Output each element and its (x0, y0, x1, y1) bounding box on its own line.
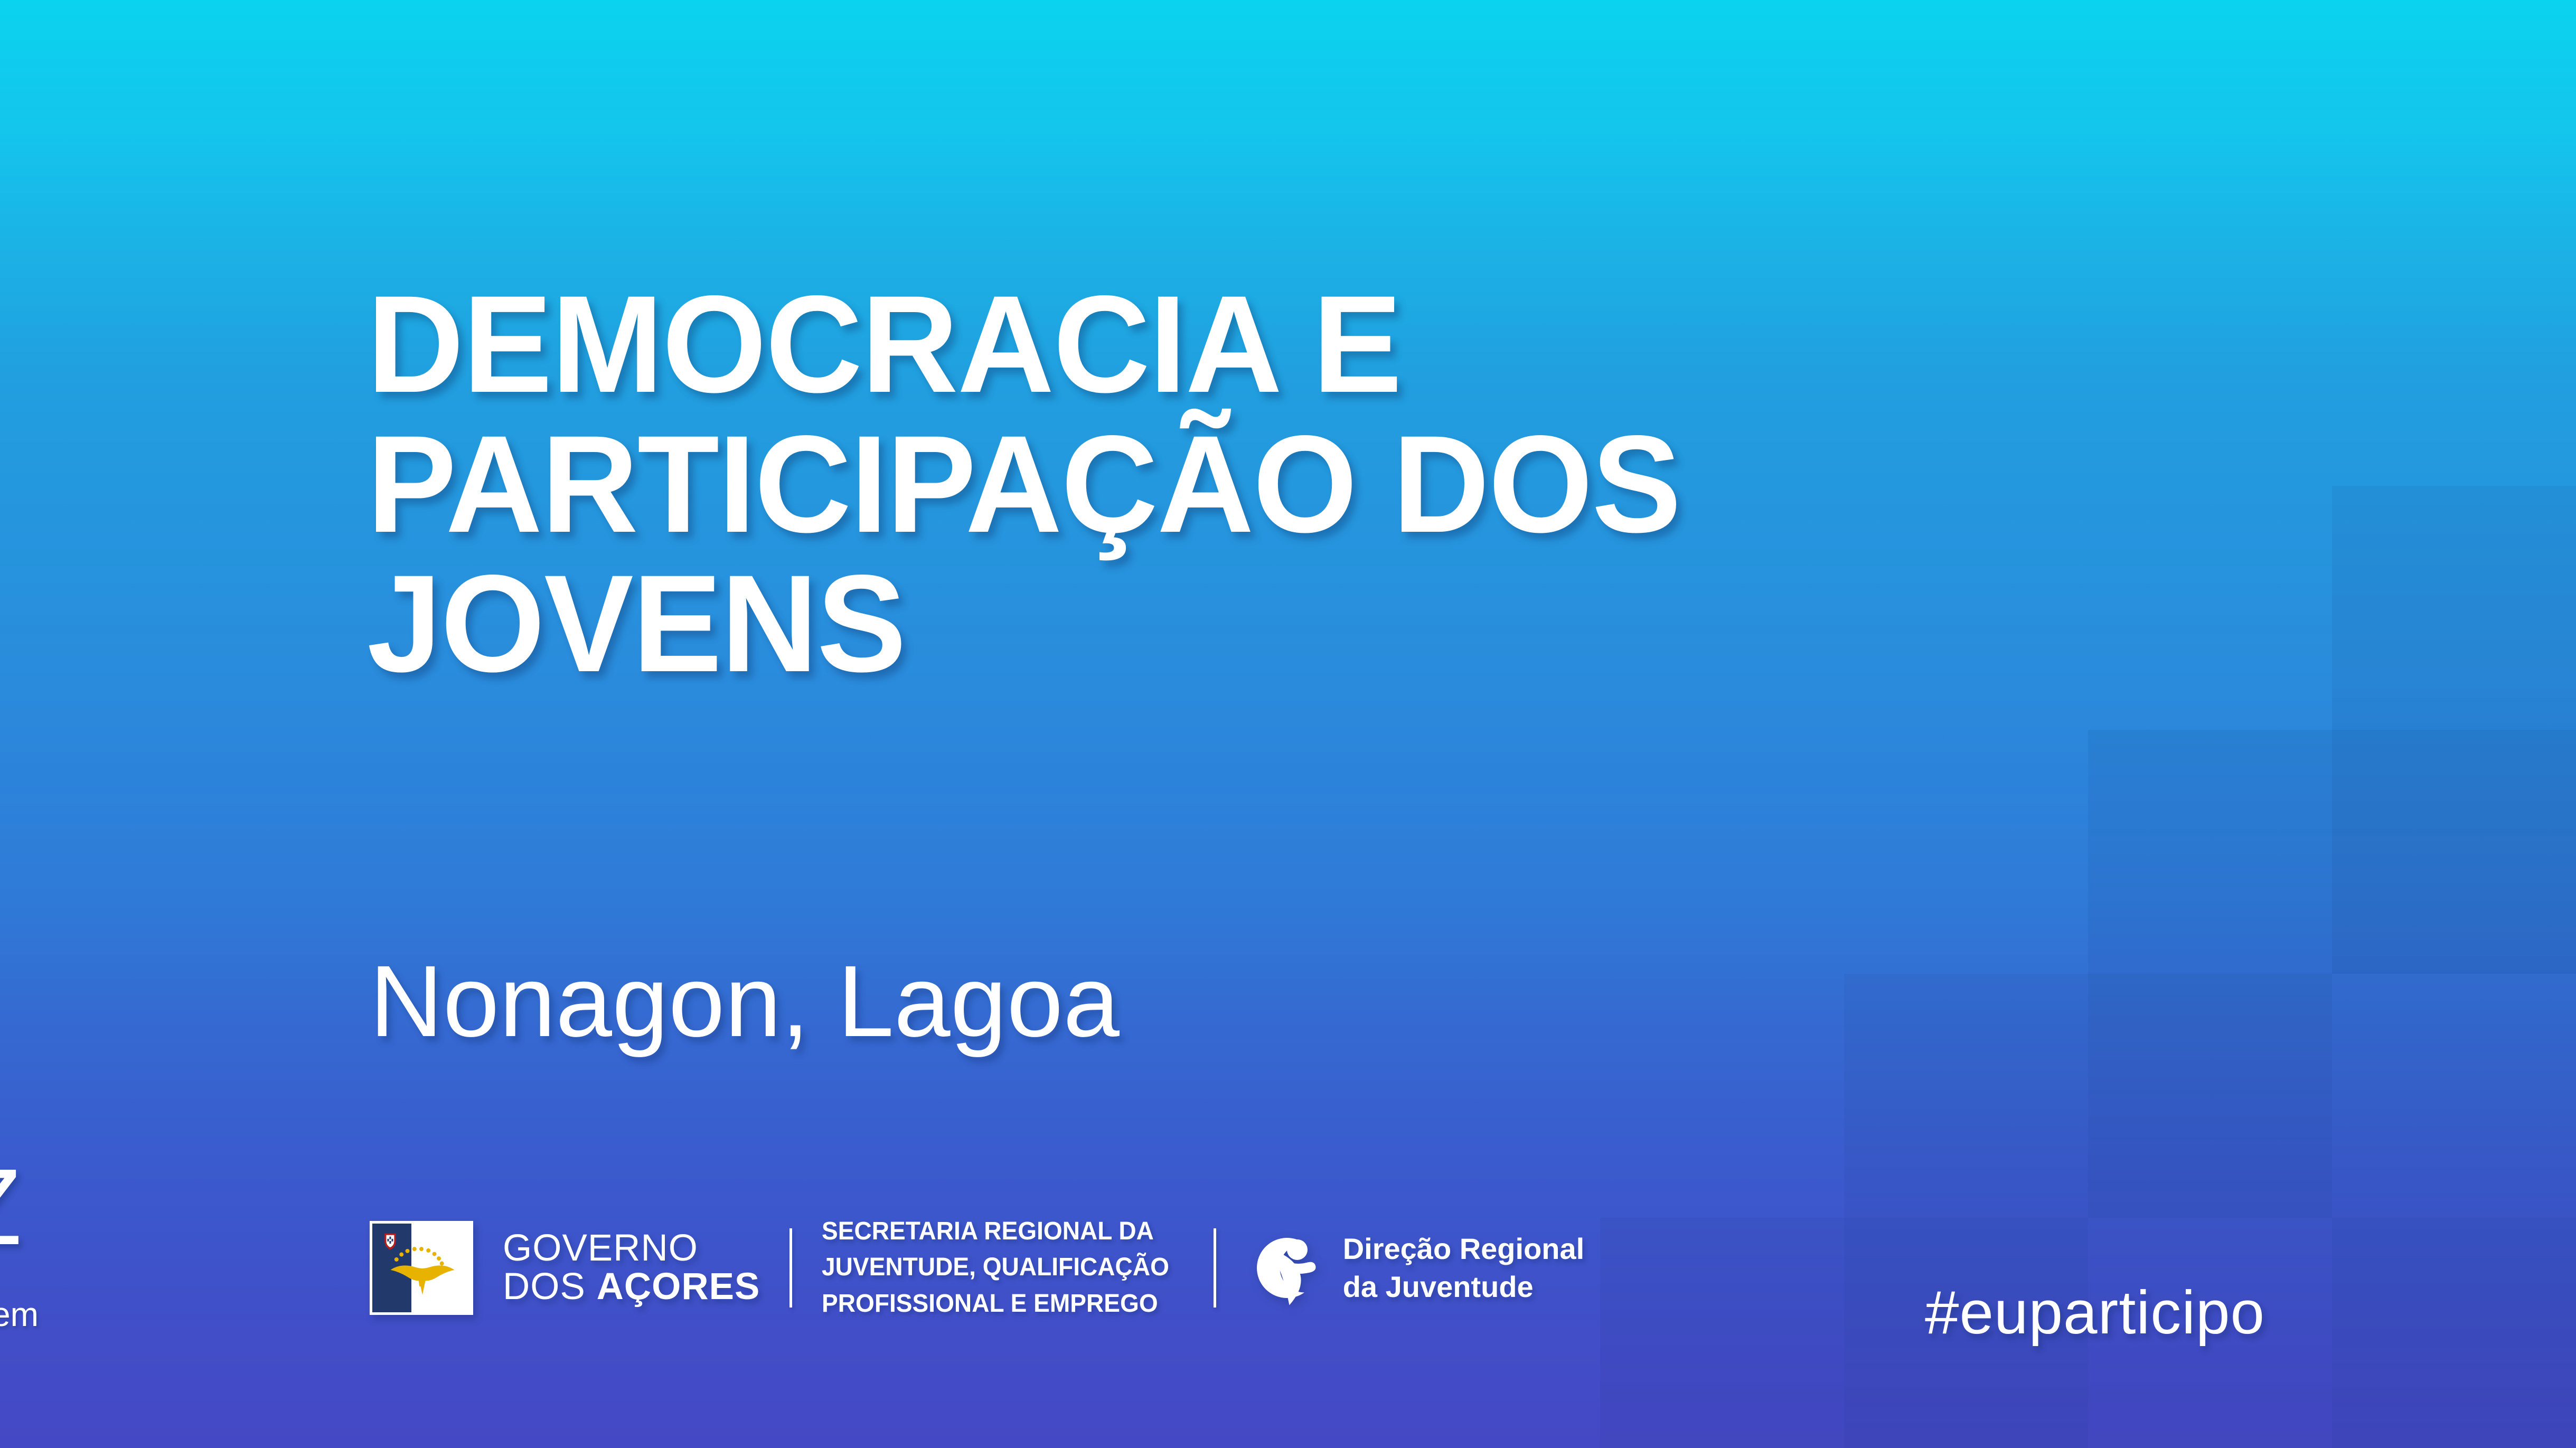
government-line-2: DOS AÇORES (503, 1268, 760, 1306)
title-line-2: PARTICIPAÇÃO DOS (367, 415, 2109, 554)
edge-word-artifact: vem (0, 1295, 39, 1334)
mosaic-square (2088, 730, 2332, 974)
divider-2 (1214, 1228, 1216, 1308)
mosaic-square (2332, 1218, 2576, 1448)
mosaic-square (1600, 1218, 1844, 1448)
campaign-hashtag: #euparticipo (1925, 1277, 2265, 1348)
logo-bar: GOVERNO DOS AÇORES SECRETARIA REGIONAL D… (370, 1214, 1584, 1322)
juventude-wordmark: Direção Regional da Juventude (1343, 1230, 1584, 1305)
secretaria-line-2: JUVENTUDE, QUALIFICAÇÃO (822, 1249, 1169, 1285)
juventude-logo: Direção Regional da Juventude (1246, 1228, 1584, 1308)
juventude-line-1: Direção Regional (1343, 1230, 1584, 1268)
mosaic-square (2332, 730, 2576, 974)
mosaic-square (1844, 974, 2088, 1218)
government-line-2-bold: AÇORES (597, 1266, 760, 1308)
secretaria-line-3: PROFISSIONAL E EMPREGO (822, 1286, 1169, 1322)
presentation-slide: Z vem DEMOCRACIA E PARTICIPAÇÃO DOS JOVE… (0, 0, 2576, 1448)
drj-figure-icon (1246, 1228, 1325, 1308)
mosaic-square (2332, 974, 2576, 1218)
government-line-1: GOVERNO (503, 1229, 760, 1267)
mosaic-square (2088, 974, 2332, 1218)
government-line-2-normal: DOS (503, 1266, 597, 1308)
edge-letter-artifact: Z (0, 1145, 22, 1270)
page-title: DEMOCRACIA E PARTICIPAÇÃO DOS JOVENS (367, 275, 2163, 694)
government-wordmark: GOVERNO DOS AÇORES (503, 1229, 760, 1306)
mosaic-square (2332, 486, 2576, 730)
secretaria-line-1: SECRETARIA REGIONAL DA (822, 1214, 1169, 1249)
page-subtitle: Nonagon, Lagoa (370, 951, 1120, 1052)
secretaria-wordmark: SECRETARIA REGIONAL DA JUVENTUDE, QUALIF… (822, 1214, 1169, 1321)
azores-flag-icon (370, 1221, 473, 1315)
divider-1 (789, 1228, 792, 1308)
juventude-line-2: da Juventude (1343, 1268, 1584, 1306)
title-line-3: JOVENS (367, 554, 2109, 694)
title-line-1: DEMOCRACIA E (367, 275, 2109, 415)
flag-emblem-icon (372, 1224, 471, 1312)
